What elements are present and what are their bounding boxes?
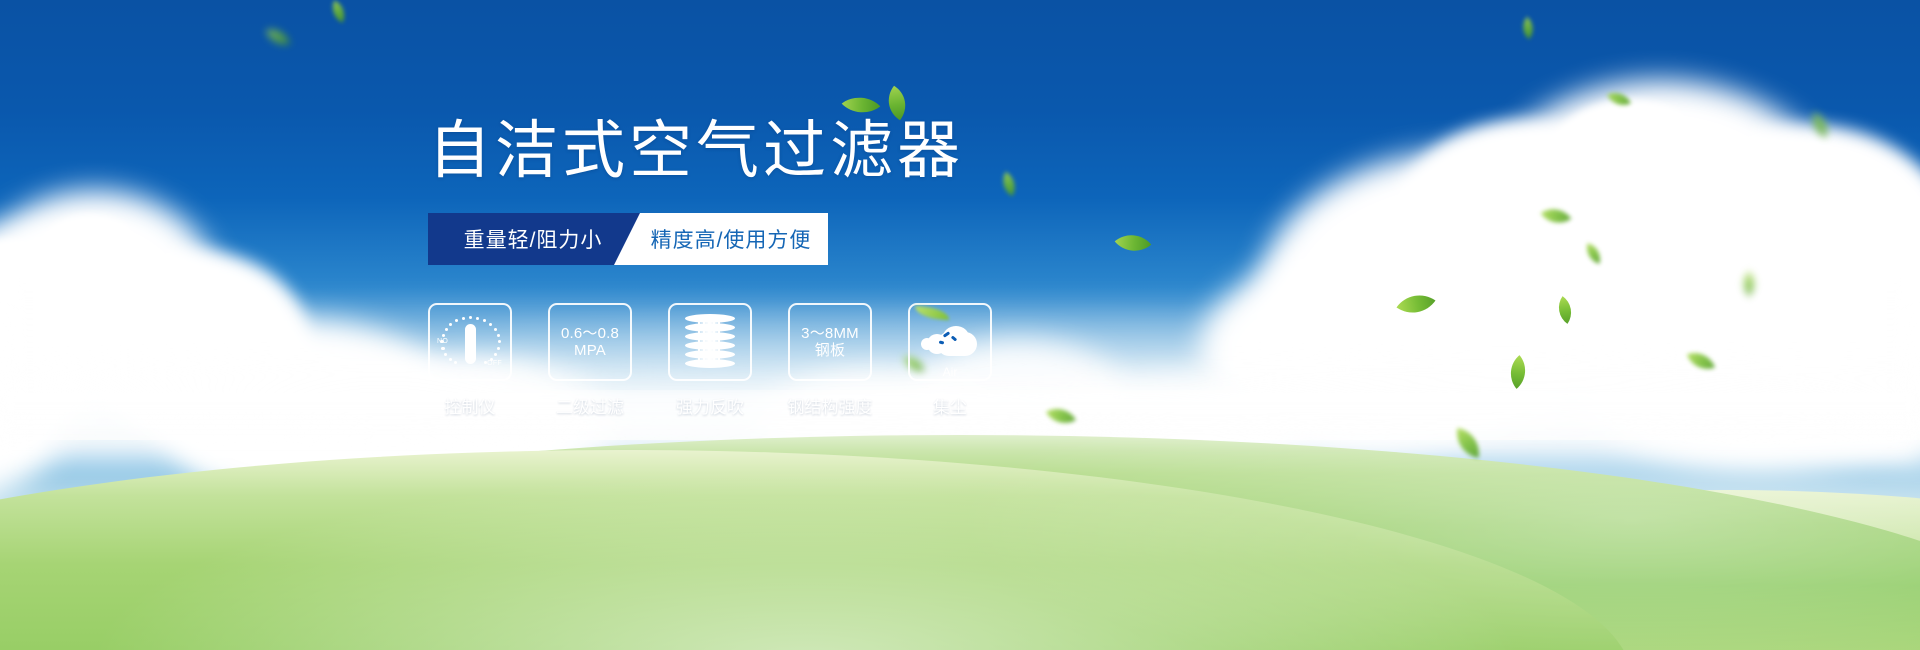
leaf-icon — [842, 88, 881, 123]
pressure-range-text: 0.6～0.8 — [561, 325, 619, 342]
gauge-label-no: NO — [437, 338, 448, 346]
feature-icon-box: 3～8MM 钢板 — [788, 303, 872, 381]
feature-item-dust[interactable]: Air 集尘 — [908, 303, 992, 418]
feature-label: 强力反吹 — [676, 393, 744, 418]
feature-icon-box: NO OFF — [428, 303, 512, 381]
filter-cartridge-icon — [685, 314, 735, 370]
feature-tabs: 重量轻/阻力小 精度高/使用方便 — [428, 213, 828, 265]
leaf-icon — [878, 86, 916, 120]
steel-thickness-text: 3～8MM — [801, 325, 859, 342]
grass-field — [0, 390, 1920, 650]
feature-item-pressure[interactable]: 0.6～0.8 MPA 二级过滤 — [548, 303, 632, 418]
feature-item-steel[interactable]: 3～8MM 钢板 钢结构强度 — [788, 303, 872, 418]
steel-plate-text: 钢板 — [815, 342, 845, 359]
product-banner: 自洁式空气过滤器 重量轻/阻力小 精度高/使用方便 — [0, 0, 1920, 650]
feature-label: 二级过滤 — [556, 393, 624, 418]
banner-content: 自洁式空气过滤器 重量轻/阻力小 精度高/使用方便 — [428, 120, 1148, 418]
feature-icon-box: 0.6～0.8 MPA — [548, 303, 632, 381]
pressure-unit-text: MPA — [574, 342, 606, 359]
feature-label: 控制仪 — [445, 393, 496, 418]
gauge-label-off: OFF — [487, 360, 502, 368]
air-label: Air — [921, 366, 979, 380]
title-leaf-decoration — [846, 88, 916, 140]
feature-item-controller[interactable]: NO OFF 控制仪 — [428, 303, 512, 418]
gauge-needle — [465, 324, 476, 364]
feature-list: NO OFF 控制仪 0.6～0.8 MPA 二级过滤 — [428, 303, 1148, 418]
feature-label: 钢结构强度 — [788, 393, 873, 418]
feature-icon-box — [668, 303, 752, 381]
leaf-streak-icon — [915, 306, 949, 320]
tab-weight-resistance[interactable]: 重量轻/阻力小 — [428, 213, 644, 265]
dust-cloud-icon: Air — [921, 318, 979, 366]
page-title: 自洁式空气过滤器 — [428, 120, 1148, 183]
feature-item-backblow[interactable]: 强力反吹 — [668, 303, 752, 418]
tab-precision-convenience[interactable]: 精度高/使用方便 — [614, 213, 828, 265]
feature-label: 集尘 — [933, 393, 967, 418]
feature-icon-box: Air — [908, 303, 992, 381]
gauge-icon: NO OFF — [439, 313, 501, 371]
